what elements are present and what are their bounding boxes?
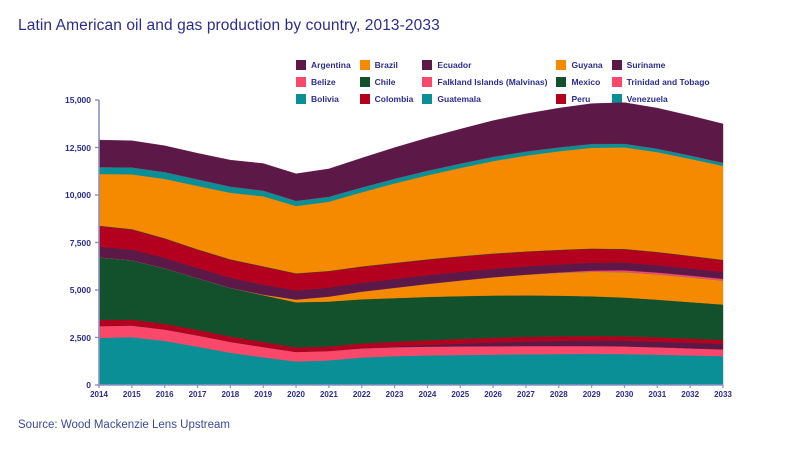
- y-axis-tick-label: 7,500: [37, 238, 91, 248]
- y-axis-tick-label: 0: [37, 380, 91, 390]
- chart-plot-area: 02,5005,0007,50010,00012,50015,000201420…: [0, 0, 800, 450]
- y-axis-tick-label: 12,500: [37, 143, 91, 153]
- source-note: Source: Wood Mackenzie Lens Upstream: [18, 419, 230, 431]
- y-axis-tick-label: 2,500: [37, 333, 91, 343]
- x-axis-tick-label: 2033: [703, 390, 743, 399]
- stacked-area-chart: [0, 0, 800, 450]
- y-axis-tick-label: 5,000: [37, 285, 91, 295]
- y-axis-tick-label: 15,000: [37, 95, 91, 105]
- y-axis-tick-label: 10,000: [37, 190, 91, 200]
